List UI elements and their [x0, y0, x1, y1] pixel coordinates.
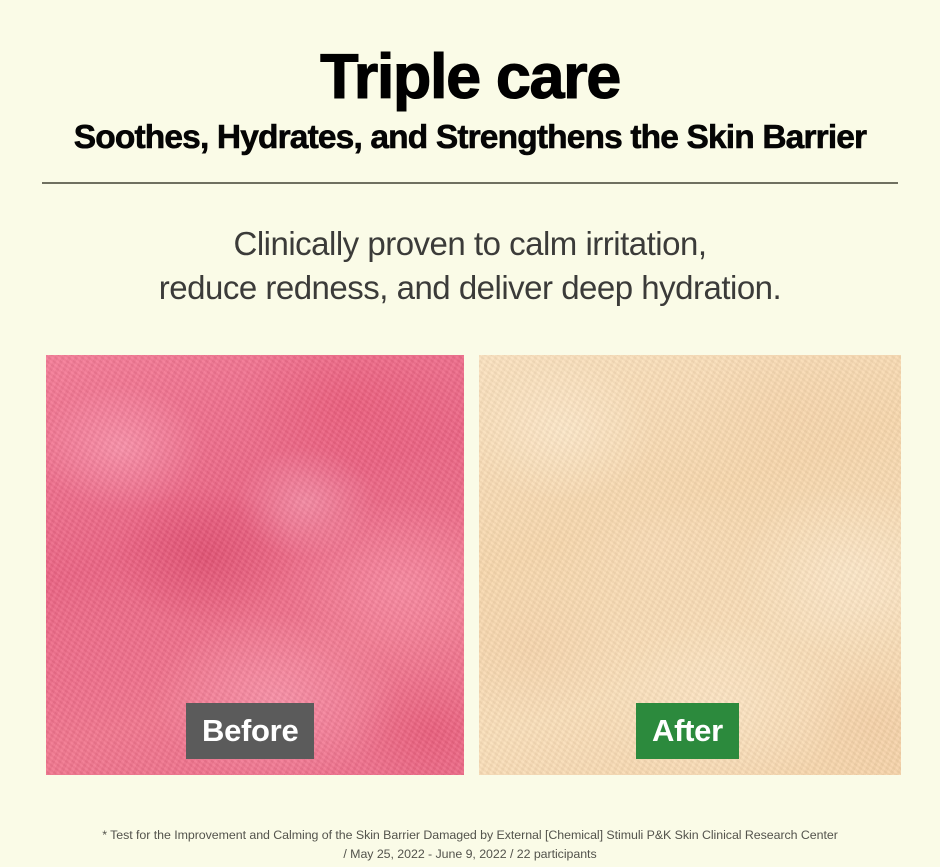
- study-footnote-line-2: / May 25, 2022 - June 9, 2022 / 22 parti…: [0, 845, 940, 864]
- before-image-panel: Before: [46, 355, 464, 775]
- before-label-badge: Before: [186, 703, 314, 759]
- after-image-panel: After: [479, 355, 901, 775]
- before-after-comparison: Before After: [46, 355, 901, 775]
- page-subtitle: Soothes, Hydrates, and Strengthens the S…: [0, 117, 940, 159]
- horizontal-divider: [42, 182, 898, 184]
- study-footnote-line-1: * Test for the Improvement and Calming o…: [0, 826, 940, 845]
- after-label-badge: After: [636, 703, 739, 759]
- claim-description-line-2: reduce redness, and deliver deep hydrati…: [0, 266, 940, 310]
- claim-description-line-1: Clinically proven to calm irritation,: [0, 222, 940, 266]
- study-footnote: * Test for the Improvement and Calming o…: [0, 826, 940, 864]
- page-title: Triple care: [0, 40, 940, 114]
- product-claim-page: Triple care Soothes, Hydrates, and Stren…: [0, 0, 940, 867]
- claim-description: Clinically proven to calm irritation, re…: [0, 222, 940, 310]
